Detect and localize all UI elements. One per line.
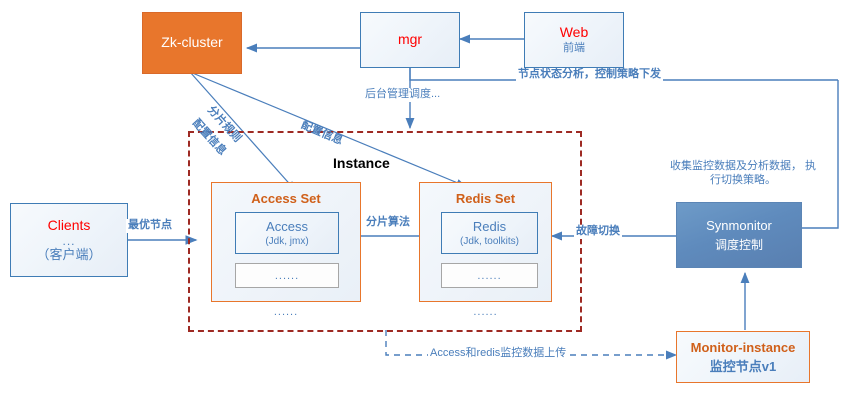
clients-title: Clients	[48, 217, 91, 235]
monitor-instance-title: Monitor-instance	[691, 340, 796, 355]
redis-detail: (Jdk, toolkits)	[460, 236, 519, 247]
node-access[interactable]: Access (Jdk, jmx)	[235, 212, 339, 254]
node-monitor-instance[interactable]: Monitor-instance 监控节点v1	[676, 331, 810, 383]
label-best-node: 最优节点	[126, 219, 174, 233]
mgr-label: mgr	[398, 31, 422, 49]
node-synmonitor[interactable]: Synmonitor 调度控制	[676, 202, 802, 268]
node-web[interactable]: Web 前端	[524, 12, 624, 68]
synmonitor-title: Synmonitor	[706, 218, 772, 233]
web-subtitle: 前端	[563, 42, 585, 56]
node-mgr[interactable]: mgr	[360, 12, 460, 68]
redis-set-ellipsis: ......	[419, 306, 552, 318]
access-set-ellipsis: ......	[211, 306, 361, 318]
access-detail: (Jdk, jmx)	[265, 236, 308, 247]
web-title: Web	[560, 24, 589, 42]
node-redis[interactable]: Redis (Jdk, toolkits)	[441, 212, 538, 254]
redis-set-title: Redis Set	[420, 191, 551, 206]
zk-cluster-label: Zk-cluster	[161, 34, 222, 52]
monitor-instance-subtitle: 监控节点v1	[710, 356, 776, 375]
label-upload-monitor-data: Access和redis监控数据上传	[428, 347, 568, 361]
redis-name: Redis	[473, 219, 506, 234]
label-collect-line1: 收集监控数据及分析数据，	[670, 160, 802, 172]
diagram-canvas: Zk-cluster mgr Web 前端 Clients ... （客户端） …	[0, 0, 852, 403]
container-redis-set: Redis Set Redis (Jdk, toolkits) ......	[419, 182, 552, 302]
container-access-set: Access Set Access (Jdk, jmx) ......	[211, 182, 361, 302]
clients-ellipsis: ...	[62, 235, 75, 247]
label-shard-algorithm: 分片算法	[364, 216, 412, 230]
label-collect-monitor-data: 收集监控数据及分析数据， 执行切换策略。	[666, 160, 820, 188]
node-access-more[interactable]: ......	[235, 263, 339, 288]
edge-bus-right-down	[802, 80, 838, 228]
instance-label: Instance	[333, 155, 390, 171]
node-redis-more[interactable]: ......	[441, 263, 538, 288]
access-name: Access	[266, 219, 308, 234]
synmonitor-subtitle: 调度控制	[715, 236, 763, 253]
clients-subtitle: （客户端）	[36, 247, 101, 263]
node-clients[interactable]: Clients ... （客户端）	[10, 203, 128, 277]
node-zk-cluster[interactable]: Zk-cluster	[142, 12, 242, 74]
access-set-title: Access Set	[212, 191, 360, 206]
label-failover: 故障切换	[574, 225, 622, 239]
label-node-status-analysis: 节点状态分析，控制策略下发	[516, 68, 663, 82]
label-backend-management: 后台管理调度...	[363, 88, 442, 102]
